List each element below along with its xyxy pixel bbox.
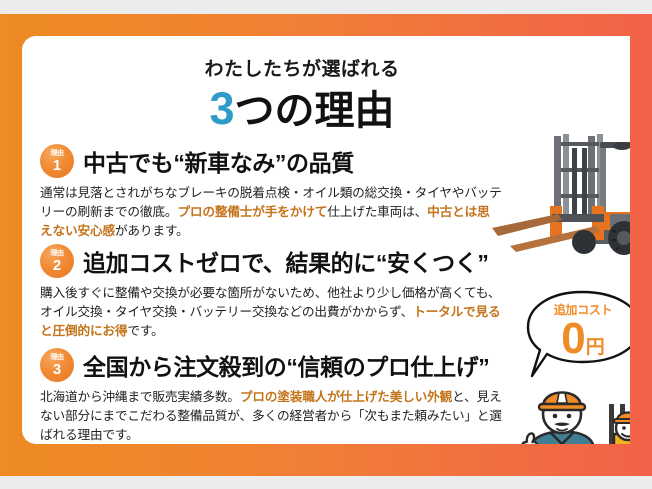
reason-1-body: 通常は見落とされがちなブレーキの脱着点検・オイル類の総交換・タイヤやバッテリーの… [40, 184, 502, 240]
forklift-mascot-icon [594, 404, 630, 444]
body-text: です。 [127, 324, 163, 338]
poster-card: わたしたちが選ばれる 3つの理由 理由 1 中古でも“新車なみ”の品質 通常は見… [22, 36, 630, 444]
reason-3-title: 全国から注文殺到の“信頼のプロ仕上げ” [83, 348, 489, 382]
header: わたしたちが選ばれる 3つの理由 [22, 60, 582, 132]
forklift-photo [492, 128, 630, 258]
reason-1-heading: 理由 1 中古でも“新車なみ”の品質 [40, 144, 510, 178]
reason-2-heading: 理由 2 追加コストゼロで、結果的に“安くつく” [40, 244, 510, 278]
title-rest: つの理由 [235, 89, 395, 133]
worker-figure [521, 393, 594, 445]
reason-block-2: 理由 2 追加コストゼロで、結果的に“安くつく” 購入後すぐに整備や交換が必要な… [40, 244, 510, 340]
worker-mascot-illustration [514, 376, 630, 444]
poster-frame: わたしたちが選ばれる 3つの理由 理由 1 中古でも“新車なみ”の品質 通常は見… [0, 14, 652, 476]
reason-2-title: 追加コストゼロで、結果的に“安くつく” [83, 244, 488, 278]
reason-2-badge-number: 2 [53, 258, 61, 273]
reason-2-badge: 理由 2 [40, 244, 74, 278]
reason-3-heading: 理由 3 全国から注文殺到の“信頼のプロ仕上げ” [40, 348, 510, 382]
reason-1-badge: 理由 1 [40, 144, 74, 178]
reason-2-badge-label: 理由 [51, 250, 64, 257]
body-highlight: プロの塗装職人が仕上げた美しい外観 [240, 390, 452, 404]
cost-speech-bubble: 追加コスト 0 円 [524, 290, 630, 382]
reason-1-badge-label: 理由 [51, 150, 64, 157]
body-highlight: プロの整備士が手をかけて [177, 205, 327, 219]
reason-1-title: 中古でも“新車なみ”の品質 [83, 144, 354, 178]
reason-3-badge-number: 3 [53, 362, 61, 377]
reason-3-badge: 理由 3 [40, 348, 74, 382]
title-number: 3 [209, 83, 234, 134]
reason-block-3: 理由 3 全国から注文殺到の“信頼のプロ仕上げ” 北海道から沖縄まで販売実績多数… [40, 348, 510, 444]
reason-3-badge-label: 理由 [51, 354, 64, 361]
speech-bubble-shape [524, 290, 630, 382]
reason-1-badge-number: 1 [53, 158, 61, 173]
body-text: があります。 [115, 224, 189, 238]
reason-block-1: 理由 1 中古でも“新車なみ”の品質 通常は見落とされがちなブレーキの脱着点検・… [40, 144, 510, 240]
body-text: 北海道から沖縄まで販売実績多数。 [40, 390, 240, 404]
body-text: 仕上げた車両は、 [327, 205, 427, 219]
header-subtitle: わたしたちが選ばれる [22, 60, 582, 81]
reason-2-body: 購入後すぐに整備や交換が必要な箇所がないため、他社より少し価格が高くても、オイル… [40, 284, 502, 340]
page-title: 3つの理由 [22, 85, 582, 132]
reason-3-body: 北海道から沖縄まで販売実績多数。プロの塗装職人が仕上げた美しい外観と、見えない部… [40, 388, 502, 444]
